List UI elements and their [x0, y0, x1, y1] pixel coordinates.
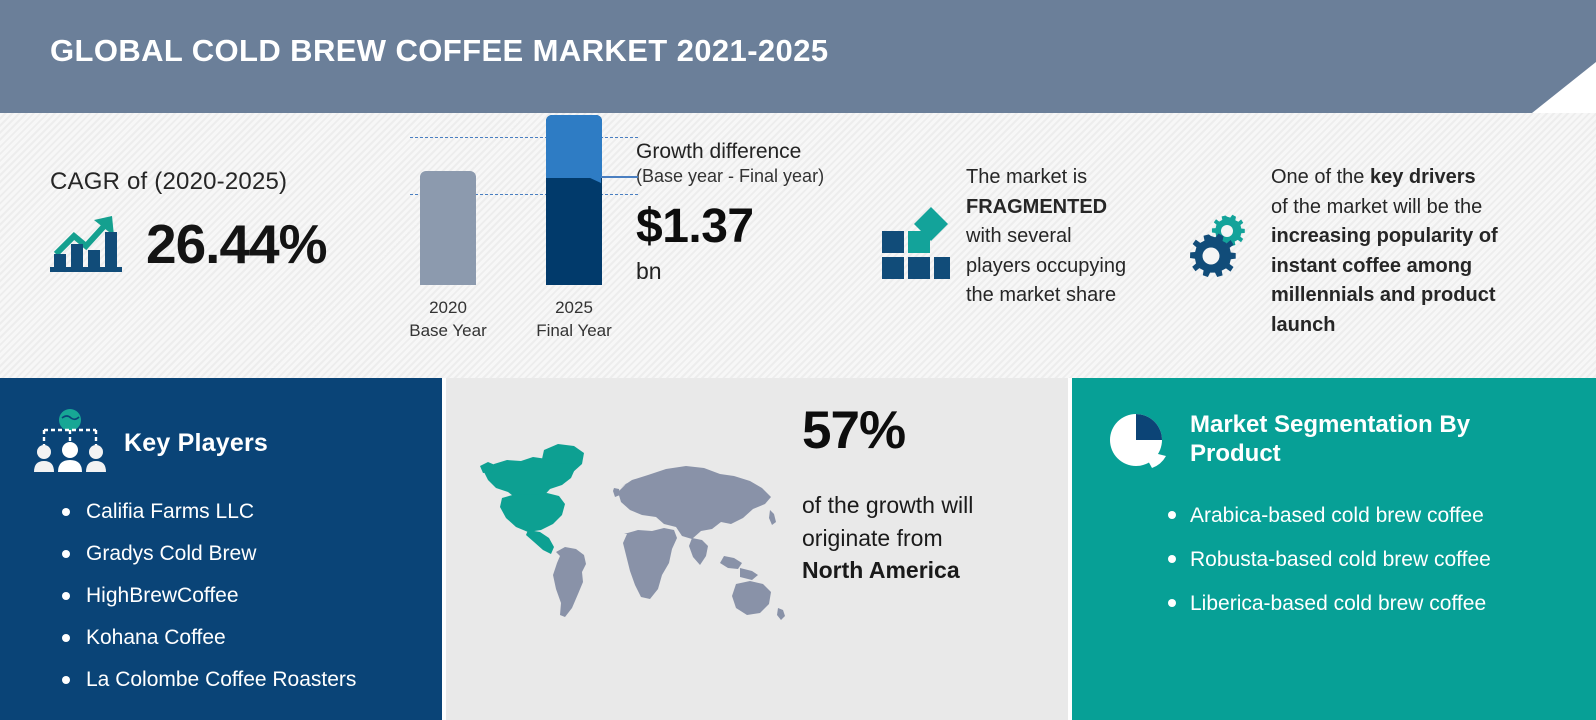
world-map — [478, 426, 818, 646]
frag-line-2: FRAGMENTED — [966, 196, 1107, 218]
top-stats-band: CAGR of (2020-2025) 26.44% — [0, 113, 1596, 378]
segmentation-title: Market Segmentation By Product — [1190, 410, 1520, 469]
growth-difference-block: Growth difference (Base year - Final yea… — [636, 140, 906, 285]
key-drivers-block: One of the key drivers of the market wil… — [1183, 163, 1553, 341]
list-item: Robusta-based cold brew coffee — [1168, 549, 1596, 570]
bar-2020-sublabel: Base Year — [393, 320, 503, 343]
key-players-panel: Key Players Califia Farms LLC Gradys Col… — [0, 378, 442, 720]
bar-2025 — [546, 115, 602, 285]
driver-line-2: of the market will be the — [1271, 196, 1482, 218]
bar-2025-year: 2025 — [519, 297, 629, 320]
driver-line-1: One of the — [1271, 166, 1370, 188]
region-stat: 57% of the growth will originate from No… — [802, 400, 1052, 587]
list-item: La Colombe Coffee Roasters — [62, 669, 442, 690]
market-segmentation-panel: Market Segmentation By Product Arabica-b… — [1072, 378, 1596, 720]
driver-line-1-bold: key drivers — [1370, 166, 1476, 188]
market-fragmentation-block: The market is FRAGMENTED with several pl… — [880, 163, 1180, 311]
frag-line-3: with several — [966, 225, 1072, 247]
list-item: Liberica-based cold brew coffee — [1168, 593, 1596, 614]
frag-line-1: The market is — [966, 166, 1087, 188]
growth-difference-subtitle: (Base year - Final year) — [636, 166, 906, 187]
region-percent: 57% — [802, 400, 1052, 461]
pie-chart-icon — [1106, 410, 1170, 479]
bar-2020-year: 2020 — [393, 297, 503, 320]
squares-diamond-icon — [880, 163, 956, 311]
list-item: Arabica-based cold brew coffee — [1168, 505, 1596, 526]
market-fragmentation-text: The market is FRAGMENTED with several pl… — [966, 163, 1126, 311]
growth-difference-value: $1.37 — [636, 199, 906, 254]
list-item: Gradys Cold Brew — [62, 543, 442, 564]
bar-2020-caption: 2020 Base Year — [393, 297, 503, 343]
list-item: Kohana Coffee — [62, 627, 442, 648]
region-description: of the growth will originate from North … — [802, 489, 1052, 587]
page-title: GLOBAL COLD BREW COFFEE MARKET 2021-2025 — [50, 33, 828, 69]
key-drivers-text: One of the key drivers of the market wil… — [1271, 163, 1553, 341]
segmentation-header: Market Segmentation By Product — [1072, 378, 1596, 479]
driver-line-3: increasing popularity of instant coffee … — [1271, 225, 1498, 336]
cagr-label: CAGR of (2020-2025) — [50, 168, 420, 196]
bar-2025-sublabel: Final Year — [519, 320, 629, 343]
frag-line-4: players occupying — [966, 255, 1126, 277]
key-players-list: Califia Farms LLC Gradys Cold Brew HighB… — [62, 501, 442, 690]
region-line-1: of the growth will — [802, 492, 973, 518]
bottom-row: Key Players Califia Farms LLC Gradys Col… — [0, 378, 1596, 720]
cagr-value: 26.44% — [146, 212, 327, 276]
cagr-row: 26.44% — [50, 210, 420, 277]
region-line-2: originate from — [802, 525, 943, 551]
region-growth-panel: 57% of the growth will originate from No… — [446, 378, 1068, 720]
bar-2020 — [420, 171, 476, 285]
key-players-header: Key Players — [0, 378, 442, 479]
bar-2025-caption: 2025 Final Year — [519, 297, 629, 343]
frag-line-5: the market share — [966, 284, 1116, 306]
region-line-3: North America — [802, 557, 960, 583]
cagr-block: CAGR of (2020-2025) 26.44% — [50, 168, 420, 277]
segmentation-list: Arabica-based cold brew coffee Robusta-b… — [1168, 505, 1596, 614]
list-item: Califia Farms LLC — [62, 501, 442, 522]
growth-difference-unit: bn — [636, 258, 906, 285]
growth-bar-chart: 2020 Base Year 2025 Final Year — [398, 123, 658, 343]
gears-icon — [1183, 163, 1265, 341]
callout-arrow-icon — [588, 170, 638, 182]
key-players-title: Key Players — [124, 429, 268, 458]
list-item: HighBrewCoffee — [62, 585, 442, 606]
bar-chart-growth-icon — [50, 210, 124, 277]
growth-difference-title: Growth difference — [636, 140, 906, 164]
bar-2025-growth-segment — [546, 115, 602, 178]
guide-line-top — [410, 137, 638, 138]
globe-network-people-icon — [34, 408, 106, 479]
